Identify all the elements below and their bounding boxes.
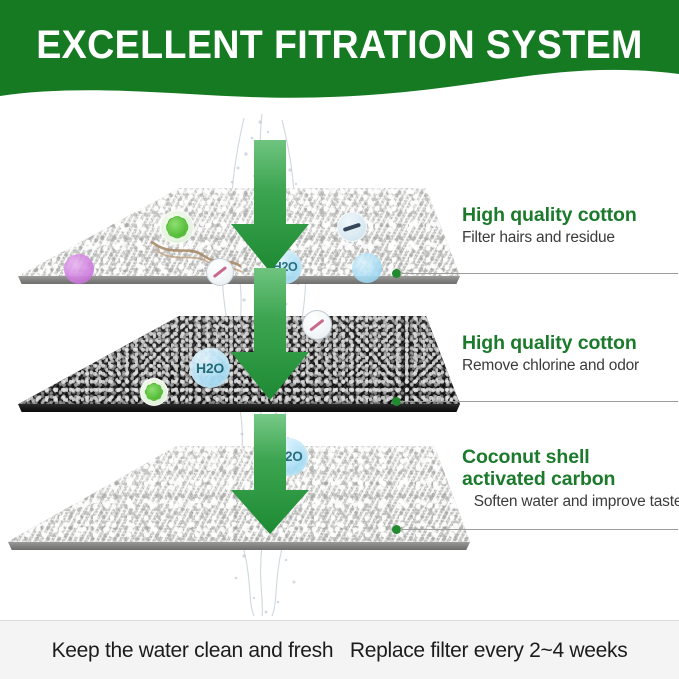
page-title: EXCELLENT FITRATION SYSTEM [20,22,658,68]
callout-1: High quality cotton Filter hairs and res… [462,204,679,247]
footer-band: Keep the water clean and fresh Replace f… [0,620,679,679]
h2o-bubble-2: H2O [190,348,230,388]
flow-arrow-2 [227,268,313,406]
particle-debris [337,212,367,242]
particle-germ-2 [140,378,168,406]
filtration-diagram: H2O High qu [0,108,679,620]
particle-purple-residue [64,254,94,284]
h2o-label-2: H2O [196,361,224,375]
flow-arrow-3 [227,414,313,540]
callout-2-title: High quality cotton [462,332,679,354]
callout-2: High quality cotton Remove chlorine and … [462,332,679,375]
particle-water-droplet [352,253,382,283]
header-banner: EXCELLENT FITRATION SYSTEM [0,0,679,108]
callout-1-title: High quality cotton [462,204,679,226]
germ-core-icon [168,218,187,237]
leader-line-1 [400,273,678,274]
callout-2-subtitle: Remove chlorine and odor [462,356,679,375]
flow-arrow-1 [227,140,313,278]
leader-line-3 [400,529,678,530]
callout-3-title: Coconut shell activated carbon [462,446,679,490]
debris-bar-icon [343,222,362,231]
callout-1-subtitle: Filter hairs and residue [462,228,679,247]
infographic-page: EXCELLENT FITRATION SYSTEM [0,0,679,679]
layer-3-edge [8,542,470,550]
germ-core-icon-2 [146,384,161,399]
chemical-bar-icon [213,266,228,278]
callout-3-subtitle: Soften water and improve taste [462,492,679,511]
footer-text: Keep the water clean and fresh Replace f… [52,639,628,663]
leader-line-2 [400,401,678,402]
callout-3: Coconut shell activated carbon Soften wa… [462,446,679,511]
